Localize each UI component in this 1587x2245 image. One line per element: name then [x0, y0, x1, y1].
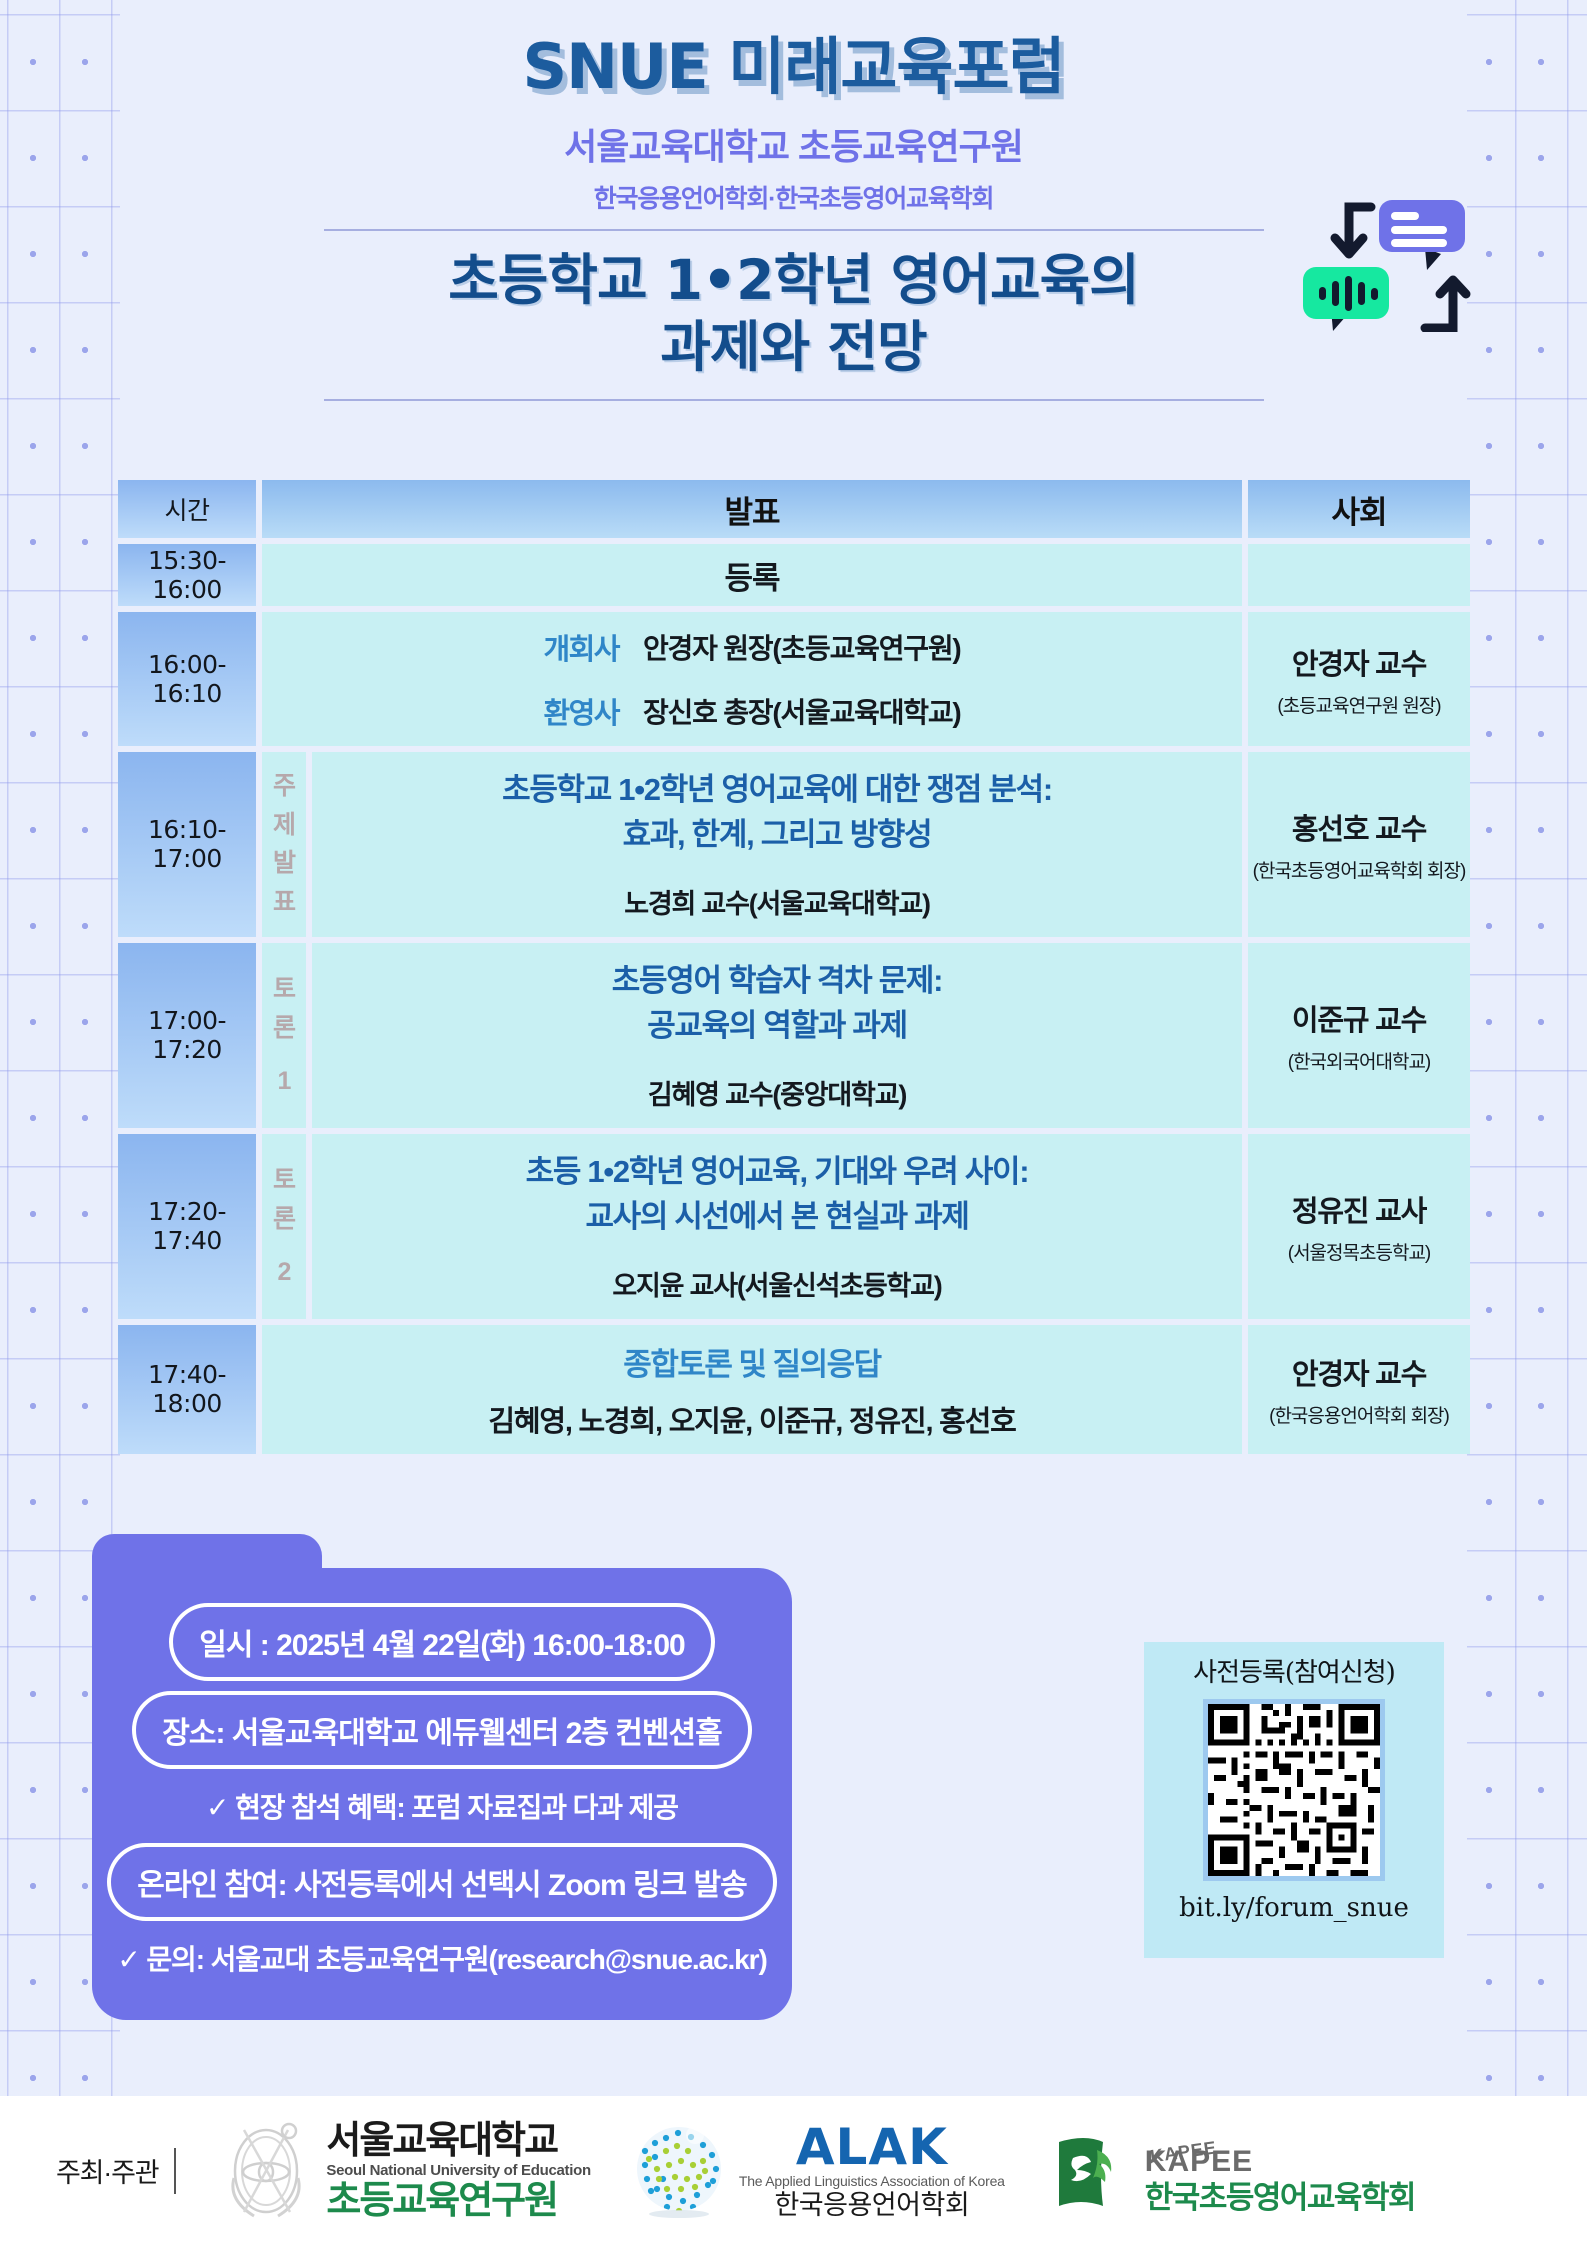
chair-name: 안경자 교수 [1248, 641, 1470, 683]
row-time: 17:20-17:40 [118, 1134, 256, 1319]
speech-bubble-exchange-icon [1275, 182, 1475, 332]
table-row: 16:10-17:00 주제발표 초등학교 1•2학년 영어교육에 대한 쟁점 … [118, 752, 1470, 937]
category-char: 주 [262, 767, 306, 806]
category-char: 발 [262, 844, 306, 883]
chair-name: 홍선호 교수 [1248, 806, 1470, 848]
session-title-line2: 효과, 한계, 그리고 방향성 [312, 813, 1242, 858]
divider-top [324, 229, 1264, 231]
main-title: 초등학교 1•2학년 영어교육의 과제와 전망 [294, 247, 1294, 381]
snue-logo: 서울교육대학교 Seoul National University of Edu… [220, 2116, 590, 2226]
table-row: 17:00-17:20 토론1 초등영어 학습자 격차 문제: 공교육의 역할과… [118, 943, 1470, 1128]
category-char: 론 [262, 1009, 306, 1048]
qr-url: bit.ly/forum_snue [1179, 1893, 1409, 1923]
chair-affiliation: (초등교육연구원 원장) [1248, 691, 1470, 718]
alak-globe-icon [633, 2121, 729, 2221]
session-presenter: 노경희 교수(서울교육대학교) [312, 858, 1242, 937]
row-content: 개회사 안경자 원장(초등교육연구원) 환영사 장신호 총장(서울교육대학교) [262, 612, 1242, 746]
qr-frame [1203, 1699, 1385, 1881]
chair-affiliation: (한국응용언어학회 회장) [1248, 1401, 1470, 1428]
opening-label: 개회사 [543, 626, 619, 668]
row-category: 토론2 [262, 1134, 306, 1319]
row-chair: 정유진 교사 (서울정목초등학교) [1248, 1134, 1470, 1319]
contact-info: ✓ 문의: 서울교대 초등교육연구원(research@snue.ac.kr) [117, 1931, 766, 1985]
row-content: 초등영어 학습자 격차 문제: 공교육의 역할과 과제 김혜영 교수(중앙대학교… [312, 943, 1242, 1128]
alak-logo: ALAK The Applied Linguistics Association… [633, 2121, 1005, 2221]
row-time: 15:30-16:00 [118, 544, 256, 606]
qr-panel: 사전등록(참여신청) [1144, 1642, 1444, 1958]
onsite-benefit: ✓ 현장 참석 혜택: 포럼 자료집과 다과 제공 [206, 1779, 678, 1833]
kapee-leaf-icon [1051, 2128, 1137, 2214]
main-title-line1: 초등학교 1•2학년 영어교육의 [294, 247, 1294, 314]
category-char: 표 [262, 883, 306, 922]
kapee-name-ko: 한국초등영어교육학회 [1145, 2182, 1415, 2213]
qr-code-icon[interactable] [1208, 1704, 1380, 1876]
snue-emblem-icon [220, 2116, 312, 2226]
opening-name: 안경자 원장(초등교육연구원) [643, 627, 961, 667]
divider-bottom [324, 399, 1264, 401]
snue-name-ko: 서울교육대학교 [326, 2122, 590, 2160]
row-chair [1248, 544, 1470, 606]
session-title-line2: 교사의 시선에서 본 현실과 과제 [312, 1195, 1242, 1240]
table-row: 15:30-16:00 등록 [118, 544, 1470, 606]
row-chair: 안경자 교수 (한국응용언어학회 회장) [1248, 1325, 1470, 1454]
main-title-line2: 과제와 전망 [294, 314, 1294, 381]
session-title-line1: 초등학교 1•2학년 영어교육에 대한 쟁점 분석: [312, 768, 1242, 813]
session-title-line2: 공교육의 역할과 과제 [312, 1004, 1242, 1049]
category-char: 2 [262, 1253, 306, 1292]
category-char: 토 [262, 1161, 306, 1200]
row-time: 16:00-16:10 [118, 612, 256, 746]
row-category: 토론1 [262, 943, 306, 1128]
row-content: 초등 1•2학년 영어교육, 기대와 우려 사이: 교사의 시선에서 본 현실과… [312, 1134, 1242, 1319]
session-title-line1: 초등영어 학습자 격차 문제: [312, 959, 1242, 1004]
info-card-content: 일시 : 2025년 4월 22일(화) 16:00-18:00 장소: 서울교… [92, 1568, 792, 2020]
row-time: 17:00-17:20 [118, 943, 256, 1128]
panel-names: 김혜영, 노경희, 오지윤, 이준규, 정유진, 홍선호 [262, 1384, 1242, 1454]
row-content: 등록 [262, 544, 1242, 606]
page-title: SNUE 미래교육포럼 [0, 0, 1587, 106]
kapee-logo: KAPEE KAPEE 한국초등영어교육학회 [1051, 2128, 1415, 2214]
chair-affiliation: (한국외국어대학교) [1248, 1047, 1470, 1074]
session-presenter: 오지윤 교사(서울신석초등학교) [312, 1240, 1242, 1319]
welcome-label: 환영사 [543, 690, 619, 732]
row-time: 17:40-18:00 [118, 1325, 256, 1454]
qr-caption: 사전등록(참여신청) [1193, 1652, 1395, 1689]
category-char: 1 [262, 1062, 306, 1101]
category-char: 토 [262, 970, 306, 1009]
category-char: 제 [262, 806, 306, 845]
table-row: 17:40-18:00 종합토론 및 질의응답 김혜영, 노경희, 오지윤, 이… [118, 1325, 1470, 1454]
schedule-table: 시간 발표 사회 15:30-16:00 등록 16:00-16:10 개회사 … [112, 474, 1476, 1460]
row-time: 16:10-17:00 [118, 752, 256, 937]
row-chair: 이준규 교수 (한국외국어대학교) [1248, 943, 1470, 1128]
host-institute: 서울교육대학교 초등교육연구원 [0, 118, 1587, 170]
row-chair: 홍선호 교수 (한국초등영어교육학회 회장) [1248, 752, 1470, 937]
column-header-chair: 사회 [1248, 480, 1470, 538]
alak-wordmark: ALAK [796, 2122, 948, 2172]
category-char: 론 [262, 1200, 306, 1239]
table-row: 16:00-16:10 개회사 안경자 원장(초등교육연구원) 환영사 장신호 … [118, 612, 1470, 746]
event-datetime: 일시 : 2025년 4월 22일(화) 16:00-18:00 [169, 1603, 715, 1681]
chair-name: 안경자 교수 [1248, 1351, 1470, 1393]
panel-title: 종합토론 및 질의응답 [262, 1325, 1242, 1384]
footer: 주최·주관 서울교육대학교 Seoul National University … [0, 2096, 1587, 2245]
alak-name-en: The Applied Linguistics Association of K… [739, 2174, 1005, 2188]
session-title-line1: 초등 1•2학년 영어교육, 기대와 우려 사이: [312, 1150, 1242, 1195]
chair-name: 이준규 교수 [1248, 997, 1470, 1039]
footer-divider [174, 2148, 176, 2194]
alak-name-ko: 한국응용언어학회 [774, 2192, 969, 2219]
chair-name: 정유진 교사 [1248, 1188, 1470, 1230]
chair-affiliation: (한국초등영어교육학회 회장) [1248, 856, 1470, 883]
chair-affiliation: (서울정목초등학교) [1248, 1238, 1470, 1265]
row-chair: 안경자 교수 (초등교육연구원 원장) [1248, 612, 1470, 746]
table-header-row: 시간 발표 사회 [118, 480, 1470, 538]
session-presenter: 김혜영 교수(중앙대학교) [312, 1049, 1242, 1128]
online-participation: 온라인 참여: 사전등록에서 선택시 Zoom 링크 발송 [107, 1843, 776, 1921]
welcome-name: 장신호 총장(서울교육대학교) [643, 691, 961, 731]
row-category: 주제발표 [262, 752, 306, 937]
footer-label: 주최·주관 [56, 2151, 158, 2190]
snue-institute-ko: 초등교육연구원 [326, 2182, 590, 2220]
column-header-time: 시간 [118, 480, 256, 538]
row-content: 종합토론 및 질의응답 김혜영, 노경희, 오지윤, 이준규, 정유진, 홍선호 [262, 1325, 1242, 1454]
table-row: 17:20-17:40 토론2 초등 1•2학년 영어교육, 기대와 우려 사이… [118, 1134, 1470, 1319]
column-header-presentation: 발표 [262, 480, 1242, 538]
row-content: 초등학교 1•2학년 영어교육에 대한 쟁점 분석: 효과, 한계, 그리고 방… [312, 752, 1242, 937]
snue-name-en: Seoul National University of Education [326, 2163, 590, 2178]
event-venue: 장소: 서울교육대학교 에듀웰센터 2층 컨벤션홀 [132, 1691, 751, 1769]
